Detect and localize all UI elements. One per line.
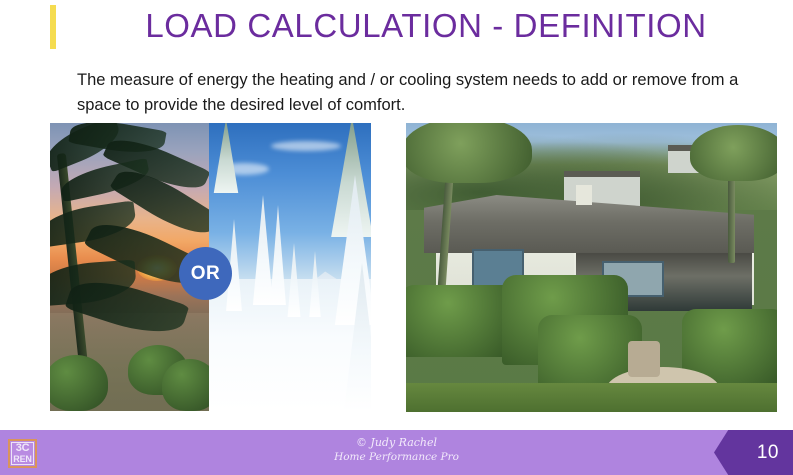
image-band: OR (0, 0, 793, 430)
photo-house[interactable] (406, 123, 777, 412)
snow-tree-icon (323, 123, 371, 237)
front-lawn (406, 383, 777, 412)
footer-bar: 3C REN © Judy Rachel Home Performance Pr… (0, 430, 793, 475)
foliage-shrub (162, 359, 209, 411)
photo-snowy-forest[interactable] (209, 123, 371, 411)
or-badge[interactable]: OR (179, 247, 232, 300)
palm-crown-icon (406, 123, 532, 183)
footer-credit: © Judy Rachel Home Performance Pro (0, 435, 793, 465)
page-number-block (714, 430, 793, 475)
page-number: 10 (757, 430, 779, 475)
title-accent-bar (50, 5, 56, 49)
snow-tree-icon (209, 123, 243, 193)
footer-credit-line2: Home Performance Pro (0, 450, 793, 465)
cloud-shape (271, 141, 341, 151)
house-chimney (576, 185, 592, 205)
page-title: LOAD CALCULATION - DEFINITION (76, 1, 776, 51)
slide-body-text: The measure of energy the heating and / … (77, 68, 767, 118)
palm-crown-icon (690, 125, 777, 181)
footer-credit-line1: © Judy Rachel (0, 435, 793, 450)
garden-fountain (628, 341, 660, 377)
foliage-shrub (50, 355, 108, 411)
